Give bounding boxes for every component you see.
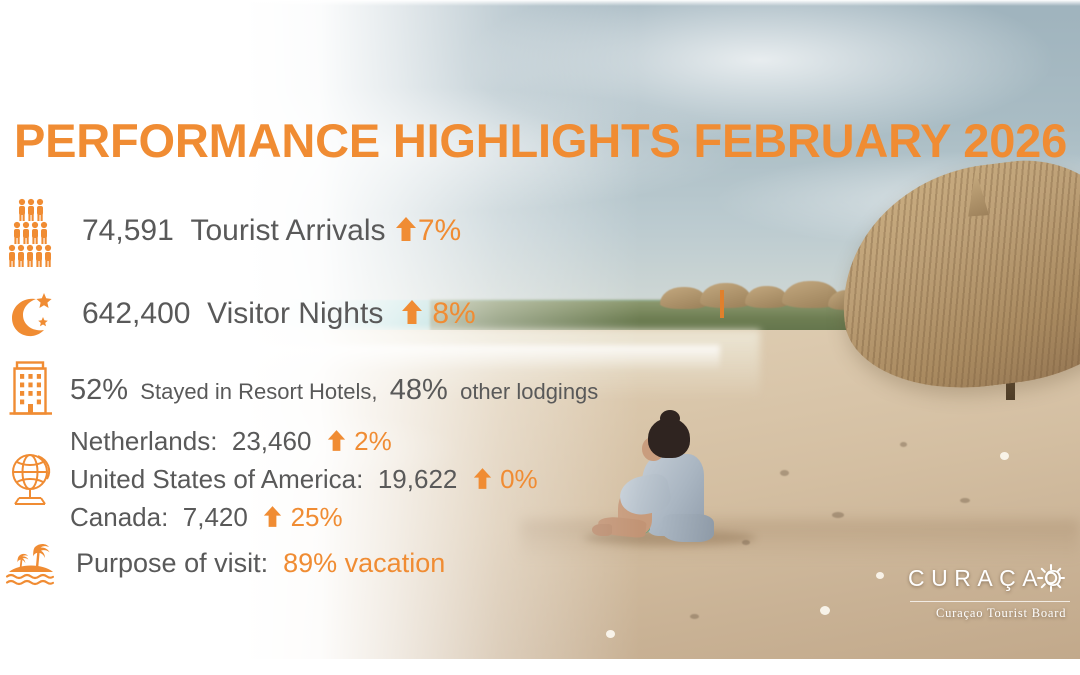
stat-row-top-markets: Netherlands: 23,460 2% United States of …: [0, 428, 700, 532]
arrivals-value: 74,591: [82, 214, 174, 247]
market-country: United States of America:: [70, 464, 363, 494]
trend-up-icon: [327, 425, 346, 461]
market-country: Canada:: [70, 502, 168, 532]
markets-list: Netherlands: 23,460 2% United States of …: [62, 423, 538, 537]
trend-up-icon: [395, 216, 417, 250]
curacao-tourist-board-logo: CURAÇAO Curaçao Tourist Board: [908, 565, 1076, 637]
moon-stars-icon: [0, 278, 62, 352]
content-layer: PERFORMANCE HIGHLIGHTS FEBRUARY 2026: [0, 0, 1080, 675]
stat-row-arrivals: 74,591 Tourist Arrivals 7%: [0, 186, 700, 278]
resort-label: Stayed in Resort Hotels,: [140, 379, 377, 404]
sun-icon: [1036, 563, 1066, 598]
stat-row-lodging: 52% Stayed in Resort Hotels, 48% other l…: [0, 352, 700, 428]
resort-pct: 52%: [70, 374, 128, 406]
palm-island-icon: [0, 532, 62, 594]
stat-row-visitor-nights: 642,400 Visitor Nights 8%: [0, 278, 700, 352]
nights-label: Visitor Nights: [207, 297, 383, 330]
other-label: other lodgings: [460, 379, 598, 404]
page-title: PERFORMANCE HIGHLIGHTS FEBRUARY 2026: [14, 113, 1074, 168]
market-value: 23,460: [232, 426, 312, 456]
purpose-label: Purpose of visit:: [76, 548, 268, 578]
nights-value: 642,400: [82, 297, 190, 330]
market-country: Netherlands:: [70, 426, 217, 456]
hotel-building-icon: [0, 352, 62, 428]
stat-row-purpose: Purpose of visit: 89% vacation: [0, 532, 700, 594]
nights-text: 642,400 Visitor Nights 8%: [62, 297, 476, 333]
globe-icon: [0, 428, 62, 532]
market-row: United States of America: 19,622 0%: [70, 461, 538, 499]
people-group-icon: [0, 186, 62, 278]
slide-root: PERFORMANCE HIGHLIGHTS FEBRUARY 2026: [0, 0, 1080, 675]
market-value: 7,420: [183, 502, 248, 532]
other-pct: 48%: [390, 374, 448, 406]
trend-up-icon: [473, 463, 492, 499]
lodging-text: 52% Stayed in Resort Hotels, 48% other l…: [62, 374, 598, 407]
market-value: 19,622: [378, 464, 458, 494]
logo-subtitle: Curaçao Tourist Board: [936, 606, 1066, 621]
market-row: Netherlands: 23,460 2%: [70, 423, 538, 461]
arrivals-text: 74,591 Tourist Arrivals 7%: [62, 214, 461, 250]
market-trend: 0%: [500, 464, 538, 494]
market-trend: 2%: [354, 426, 392, 456]
arrivals-label: Tourist Arrivals: [190, 214, 385, 247]
purpose-text: Purpose of visit: 89% vacation: [62, 548, 445, 579]
purpose-value: 89% vacation: [283, 548, 445, 578]
market-trend: 25%: [291, 502, 343, 532]
arrivals-trend: 7%: [418, 214, 461, 247]
trend-up-icon: [401, 299, 423, 333]
logo-divider: [910, 601, 1070, 602]
stats-list: 74,591 Tourist Arrivals 7%: [0, 186, 700, 594]
nights-trend: 8%: [432, 297, 475, 330]
logo-wordmark-text: CURAÇA: [908, 565, 1044, 591]
